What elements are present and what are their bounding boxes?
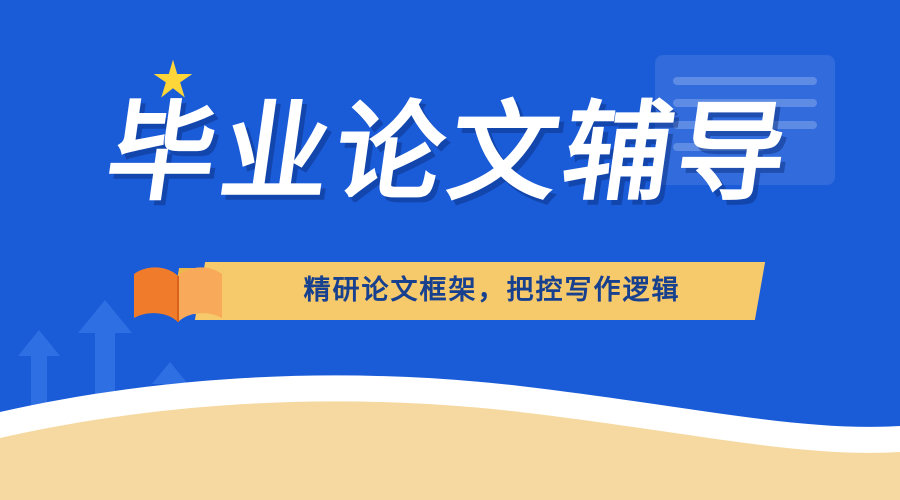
subtitle-text: 精研论文框架，把控写作逻辑 bbox=[232, 262, 752, 320]
page-title: 毕业论文辅导 bbox=[0, 100, 900, 208]
wave-shape bbox=[0, 360, 900, 500]
document-card-line bbox=[673, 77, 817, 85]
open-book-icon bbox=[128, 262, 228, 326]
poster-canvas: 毕业论文辅导 精研论文框架，把控写作逻辑 bbox=[0, 0, 900, 500]
